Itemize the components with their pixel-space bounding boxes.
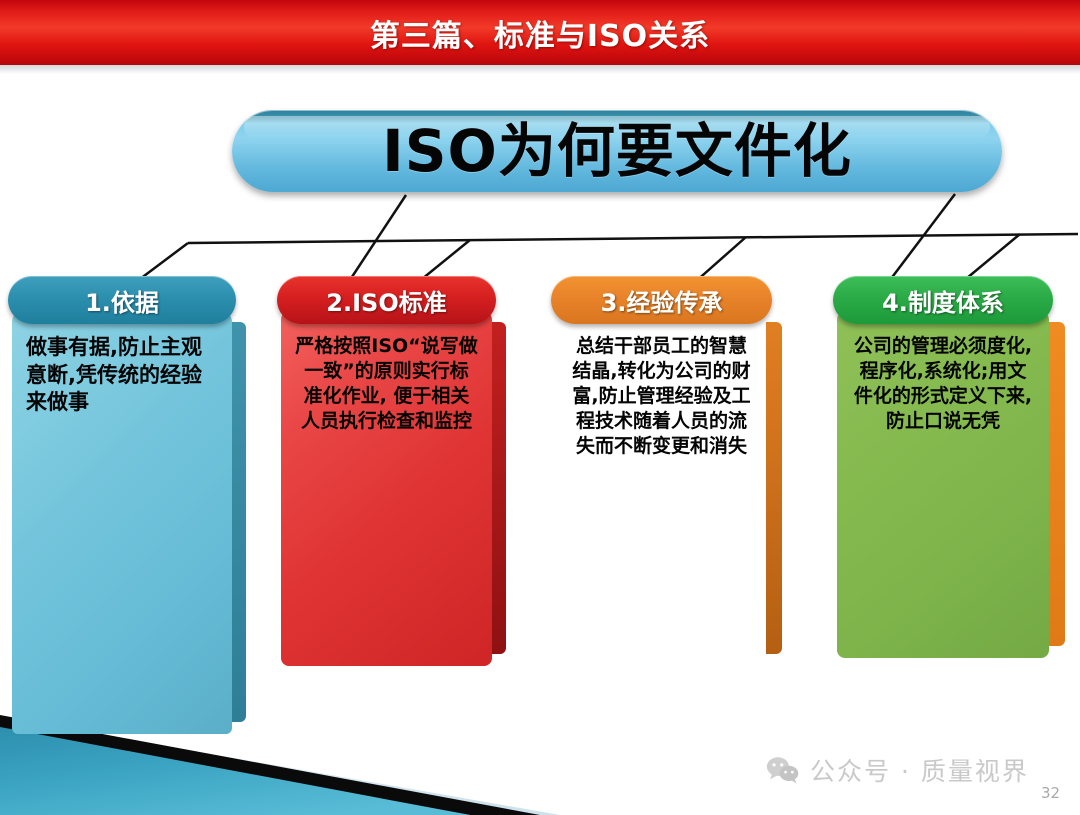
page-number: 32 — [1041, 784, 1060, 802]
card-4-body: 公司的管理必须度化,程序化,系统化;用文件化的形式定义下来,防止口说无凭 — [837, 310, 1049, 658]
card-2-header[interactable]: 2.ISO标准 — [277, 276, 496, 324]
card-3-header-label: 3.经验传承 — [601, 283, 723, 318]
banner-title: 第三篇、标准与ISO关系 — [370, 11, 710, 55]
card-3-header[interactable]: 3.经验传承 — [551, 276, 772, 324]
card-1-header[interactable]: 1.依据 — [8, 276, 236, 324]
card-2-iso标准[interactable]: 严格按照ISO“说写做一致”的原则实行标准化作业, 便于相关人员执行检查和监控 … — [277, 276, 496, 666]
card-1-依据[interactable]: 做事有据,防止主观意断,凭传统的经验来做事 1.依据 — [8, 276, 236, 734]
card-3-body-text: 总结干部员工的智慧结晶,转化为公司的财富,防止管理经验及工程技术随着人员的流失而… — [569, 334, 754, 459]
card-3-body: 总结干部员工的智慧结晶,转化为公司的财富,防止管理经验及工程技术随着人员的流失而… — [555, 310, 768, 666]
card-4-side-shadow — [1049, 322, 1065, 646]
watermark: 公众号 · 质量视界 — [766, 752, 1029, 788]
card-3-side-shadow — [766, 322, 782, 654]
main-title-box: ISO为何要文件化 — [232, 110, 1002, 192]
header-banner: 第三篇、标准与ISO关系 — [0, 0, 1080, 68]
slide-canvas: 第三篇、标准与ISO关系 ISO为何要文件化 做事有据,防止主观意断,凭传统的经… — [0, 0, 1080, 815]
card-4-header-label: 4.制度体系 — [882, 283, 1004, 318]
card-4-body-text: 公司的管理必须度化,程序化,系统化;用文件化的形式定义下来,防止口说无凭 — [851, 334, 1035, 434]
card-1-side-shadow — [230, 322, 246, 722]
wechat-icon — [766, 756, 800, 784]
card-4-制度体系[interactable]: 公司的管理必须度化,程序化,系统化;用文件化的形式定义下来,防止口说无凭 4.制… — [833, 276, 1053, 658]
card-2-header-label: 2.ISO标准 — [326, 283, 446, 318]
card-2-body-text: 严格按照ISO“说写做一致”的原则实行标准化作业, 便于相关人员执行检查和监控 — [295, 334, 478, 434]
card-1-body: 做事有据,防止主观意断,凭传统的经验来做事 — [12, 310, 232, 734]
card-4-header[interactable]: 4.制度体系 — [833, 276, 1053, 324]
card-2-side-shadow — [490, 322, 506, 654]
watermark-text: 公众号 · 质量视界 — [810, 752, 1029, 788]
card-2-body: 严格按照ISO“说写做一致”的原则实行标准化作业, 便于相关人员执行检查和监控 — [281, 310, 492, 666]
card-3-经验传承[interactable]: 总结干部员工的智慧结晶,转化为公司的财富,防止管理经验及工程技术随着人员的流失而… — [551, 276, 772, 666]
main-title-text: ISO为何要文件化 — [382, 122, 852, 180]
card-1-body-text: 做事有据,防止主观意断,凭传统的经验来做事 — [26, 334, 218, 417]
card-1-header-label: 1.依据 — [85, 283, 159, 318]
